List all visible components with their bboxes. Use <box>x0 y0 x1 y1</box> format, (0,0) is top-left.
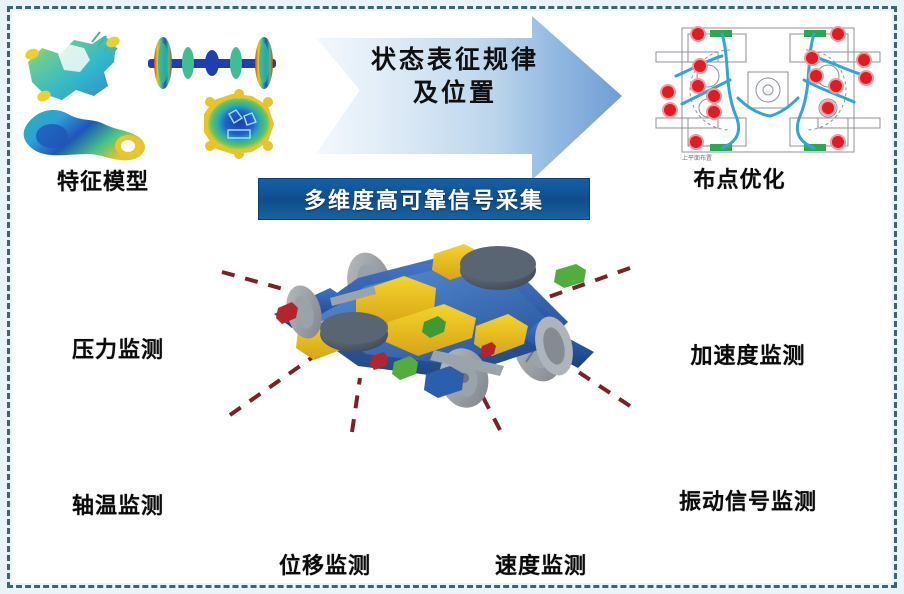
caption-vibration-signal-monitoring: 振动信号监测 <box>637 484 859 516</box>
fea-arm-model <box>24 110 145 160</box>
feature-model-graphic <box>18 14 290 166</box>
diagram-canvas: 特征模型 状态表征规律 及位置 多维度高可靠信号采集 <box>0 0 904 594</box>
caption-speed-monitoring: 速度监测 <box>455 548 627 580</box>
main-title-banner: 多维度高可靠信号采集 <box>258 178 590 220</box>
fea-housing-model <box>204 89 274 159</box>
fea-wheelset-model <box>148 37 276 89</box>
caption-axle-temperature-monitoring: 轴温监测 <box>18 488 218 520</box>
caption-feature-model: 特征模型 <box>18 164 188 196</box>
svg-text:上平面布置: 上平面布置 <box>682 154 712 162</box>
caption-pressure-monitoring: 压力监测 <box>18 332 218 364</box>
caption-acceleration-monitoring: 加速度监测 <box>637 338 859 370</box>
caption-sensor-layout: 布点优化 <box>652 162 827 194</box>
caption-displacement-monitoring: 位移监测 <box>237 548 413 580</box>
fea-frame-model <box>24 32 122 103</box>
sensor-layout-drawing: 上平面布置 <box>652 16 884 164</box>
arrow-label-line2: 及位置 <box>330 77 580 110</box>
arrow-label-line1: 状态表征规律 <box>330 44 580 77</box>
bogie-3d-model <box>238 226 630 412</box>
main-title-text: 多维度高可靠信号采集 <box>304 183 544 215</box>
process-arrow-label: 状态表征规律 及位置 <box>330 44 580 109</box>
